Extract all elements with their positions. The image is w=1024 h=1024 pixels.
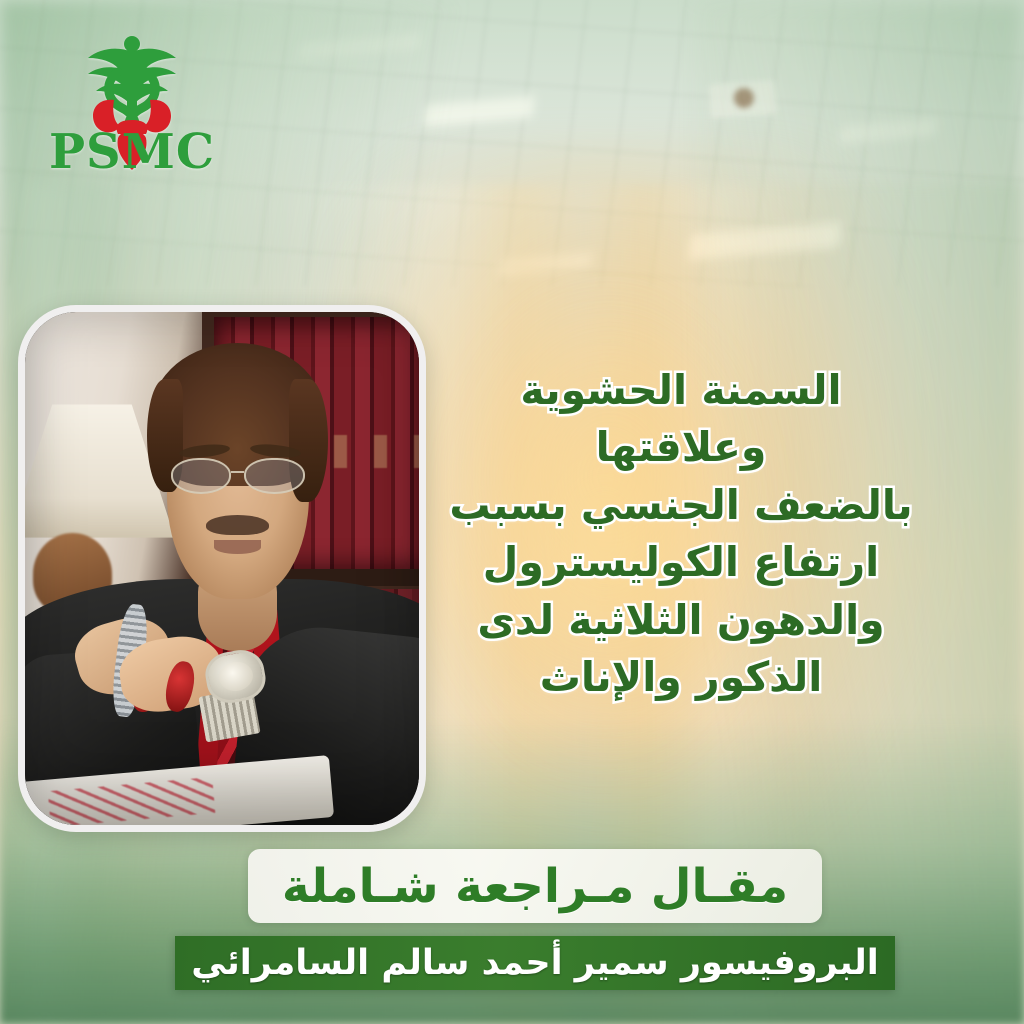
psmc-wordmark: PSMC [49,124,215,180]
article-type-label: مقـال مـراجعة شـاملة [282,863,788,910]
headline-line-3: ارتفاع الكوليسترول [446,534,916,591]
article-type-banner: مقـال مـراجعة شـاملة [248,849,822,923]
professor-portrait-photo [25,312,419,825]
poster-canvas: PSMC [0,0,1024,1024]
headline-line-5: الذكور والإناث [446,649,916,706]
headline: السمنة الحشوية وعلاقتها بالضعف الجنسي بس… [446,362,916,706]
headline-line-1: السمنة الحشوية وعلاقتها [446,362,916,477]
headline-line-2: بالضعف الجنسي بسبب [446,477,916,534]
professor-portrait-frame [18,305,426,832]
author-banner: البروفيسور سمير أحمد سالم السامرائي [175,936,895,990]
author-name-label: البروفيسور سمير أحمد سالم السامرائي [191,946,879,981]
headline-line-4: والدهون الثلاثية لدى [446,592,916,649]
psmc-logo[interactable]: PSMC [48,28,216,188]
photo-vignette [25,312,419,825]
svg-text:PSMC: PSMC [49,124,215,180]
